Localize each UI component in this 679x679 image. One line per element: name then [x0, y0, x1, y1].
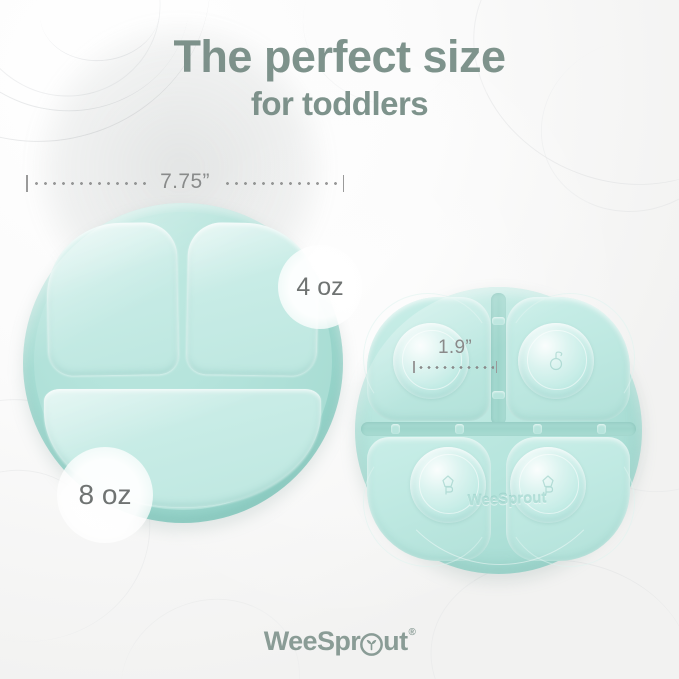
product-image-canvas: The perfect size for toddlers 7.75” [0, 0, 679, 679]
sprout-icon [360, 632, 383, 655]
dimension-dots-right [223, 182, 339, 185]
channel-tab [455, 424, 464, 434]
suction-cup-top-right [518, 323, 594, 399]
dimension-cap-left [26, 175, 28, 192]
plate-width-label: 7.75” [151, 170, 219, 194]
dimension-dots-left [32, 182, 148, 185]
headline: The perfect size for toddlers [0, 34, 679, 121]
compartment-upper-left [46, 222, 180, 376]
suction-cup-label: 1.9” [413, 338, 497, 357]
material-symbol-icon [435, 472, 461, 498]
brand-logo: WeeSpr ut ® [0, 626, 679, 657]
brand-name-part-2: ut [383, 626, 407, 657]
channel-tab [492, 317, 505, 325]
suction-cup-dimension: 1.9” [413, 338, 497, 374]
material-symbol-icon [543, 348, 569, 374]
suction-cup-bottom-left [410, 447, 486, 523]
divided-toddler-plate-back: WeeSprout [355, 287, 642, 574]
brand-logo-text: WeeSpr ut ® [264, 626, 416, 657]
dimension-dots [417, 366, 494, 369]
dimension-cap-left [413, 361, 415, 373]
channel-tab [391, 424, 400, 434]
channel-tab [492, 391, 505, 399]
material-symbol-icon [535, 472, 561, 498]
channel-tab [597, 424, 606, 434]
compartment-gloss [46, 222, 180, 376]
back-channel-horizontal [361, 422, 636, 436]
brand-name-part-1: WeeSpr [264, 626, 360, 657]
registered-trademark-symbol: ® [408, 627, 415, 638]
dimension-cap-right [343, 175, 345, 192]
suction-cup-bottom-right [510, 447, 586, 523]
headline-line-1: The perfect size [0, 34, 679, 81]
dimension-cap-right [496, 361, 498, 373]
plate-width-dimension: 7.75” [26, 170, 344, 196]
capacity-badge-4oz: 4 oz [278, 245, 362, 329]
capacity-badge-8oz: 8 oz [57, 447, 153, 543]
channel-tab [533, 424, 542, 434]
headline-line-2: for toddlers [0, 87, 679, 121]
suction-cup-dimension-line [413, 360, 497, 374]
